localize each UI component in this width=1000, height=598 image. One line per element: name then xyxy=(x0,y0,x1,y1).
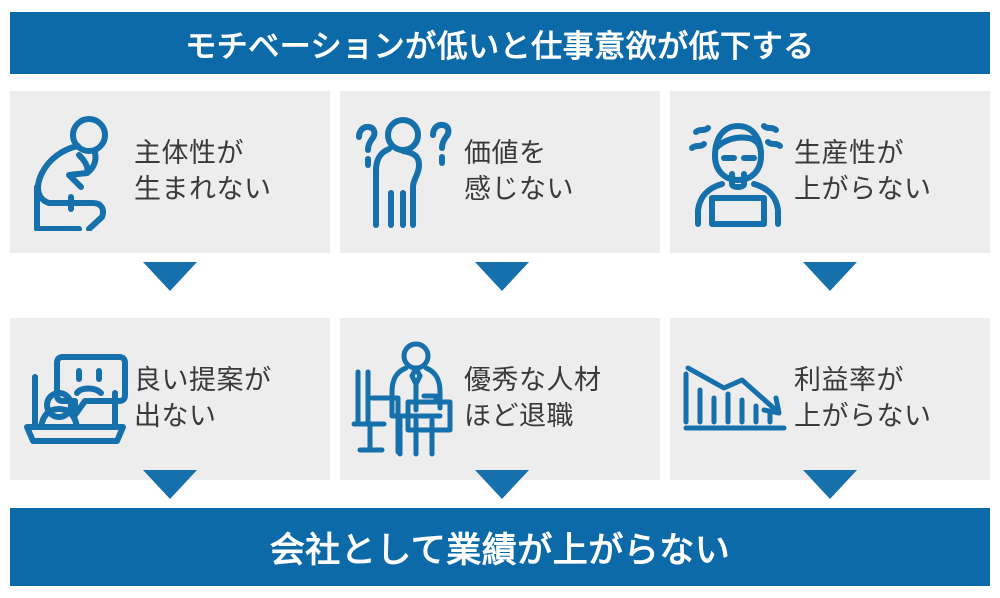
laptop-sad-speech-bubble-icon xyxy=(10,333,132,465)
declining-bar-chart-arrow-icon xyxy=(670,333,792,465)
card-proposals: 良い提案が 出ない xyxy=(10,318,330,480)
card-value: 価値を 感じない xyxy=(340,91,660,253)
thinking-person-icon xyxy=(10,106,132,238)
card-label-initiative: 主体性が 生まれない xyxy=(132,136,272,207)
confused-person-question-marks-icon xyxy=(340,106,462,238)
card-label-proposals: 良い提案が 出ない xyxy=(132,363,272,434)
header-banner: モチベーションが低いと仕事意欲が低下する xyxy=(10,12,990,74)
arrow-down-icon xyxy=(475,262,529,291)
footer-banner: 会社として業績が上がらない xyxy=(10,508,990,586)
card-label-value: 価値を 感じない xyxy=(462,136,574,207)
arrow-down-icon xyxy=(803,470,857,499)
employee-leaving-briefcase-icon xyxy=(340,333,462,465)
arrow-down-icon xyxy=(143,470,197,499)
frustrated-worker-laptop-icon xyxy=(670,106,792,238)
card-label-retention: 優秀な人材 ほど退職 xyxy=(462,363,602,434)
arrow-down-icon xyxy=(143,262,197,291)
arrow-down-icon xyxy=(803,262,857,291)
card-profit: 利益率が 上がらない xyxy=(670,318,990,480)
card-label-profit: 利益率が 上がらない xyxy=(792,363,932,434)
card-retention: 優秀な人材 ほど退職 xyxy=(340,318,660,480)
arrow-down-icon xyxy=(475,470,529,499)
conclusion-title: 会社として業績が上がらない xyxy=(270,522,730,573)
card-initiative: 主体性が 生まれない xyxy=(10,91,330,253)
page-title: モチベーションが低いと仕事意欲が低下する xyxy=(185,21,814,66)
card-label-productivity: 生産性が 上がらない xyxy=(792,136,932,207)
card-productivity: 生産性が 上がらない xyxy=(670,91,990,253)
infographic-root: モチベーションが低いと仕事意欲が低下する 主体性が 生まれない xyxy=(0,0,1000,598)
